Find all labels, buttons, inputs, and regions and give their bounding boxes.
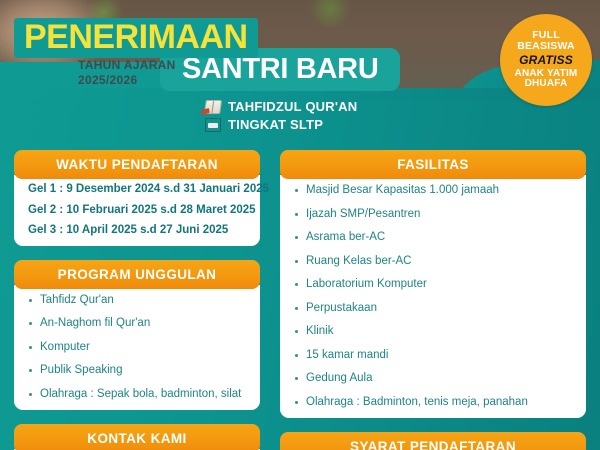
gel-row: Gel 2 : 10 Februari 2025 s.d 28 Maret 20… bbox=[28, 205, 250, 217]
program-tagline-level: TINGKAT SLTP bbox=[205, 117, 357, 132]
card-waktu-heading: WAKTU PENDAFTARAN bbox=[14, 150, 260, 179]
left-column: WAKTU PENDAFTARAN Gel 1 : 9 Desember 202… bbox=[0, 150, 268, 450]
program-tagline-quran: TAHFIDZUL QUR'AN bbox=[205, 99, 357, 114]
gel-row: Gel 3 : 10 April 2025 s.d 27 Juni 2025 bbox=[28, 225, 250, 237]
list-item: Komputer bbox=[26, 342, 248, 354]
list-item: Gedung Aula bbox=[292, 373, 574, 385]
program-tagline-quran-label: TAHFIDZUL QUR'AN bbox=[228, 99, 357, 114]
program-tagline-list: TAHFIDZUL QUR'AN TINGKAT SLTP bbox=[205, 99, 357, 135]
list-item: Laboratorium Komputer bbox=[292, 279, 574, 291]
card-syarat-heading: SYARAT PENDAFTARAN bbox=[280, 432, 586, 450]
list-item: Masjid Besar Kapasitas 1.000 jamaah bbox=[292, 185, 574, 197]
card-program-body: Tahfidz Qur'an An-Naghom fil Qur'an Komp… bbox=[14, 285, 260, 411]
badge-line-beasiswa: BEASISWA bbox=[517, 41, 575, 52]
list-item: Asrama ber-AC bbox=[292, 232, 574, 244]
card-program-heading: PROGRAM UNGGULAN bbox=[14, 260, 260, 289]
academic-year: TAHUN AJARAN 2025/2026 bbox=[78, 58, 176, 87]
page-subtitle: SANTRI BARU bbox=[182, 54, 378, 84]
badge-line-gratiss: GRATISS bbox=[519, 54, 573, 67]
right-column: FASILITAS Masjid Besar Kapasitas 1.000 j… bbox=[268, 150, 600, 450]
title-band: PENERIMAAN bbox=[14, 18, 258, 58]
list-item: Olahraga : Sepak bola, badminton, silat bbox=[26, 389, 248, 401]
scholarship-badge: FULL BEASISWA GRATISS ANAK YATIM DHUAFA bbox=[500, 14, 592, 106]
fasilitas-list: Masjid Besar Kapasitas 1.000 jamaah Ijaz… bbox=[292, 185, 574, 408]
list-item: 15 kamar mandi bbox=[292, 350, 574, 362]
academic-year-line1: TAHUN AJARAN bbox=[78, 58, 176, 73]
list-item: An-Naghom fil Qur'an bbox=[26, 318, 248, 330]
badge-line-dhuafa: DHUAFA bbox=[525, 79, 568, 90]
page-title: PENERIMAAN bbox=[24, 20, 248, 54]
list-item: Olahraga : Badminton, tenis meja, panaha… bbox=[292, 397, 574, 409]
poster-canvas: PENERIMAAN SANTRI BARU TAHUN AJARAN 2025… bbox=[0, 0, 600, 450]
card-syarat-pendaftaran: SYARAT PENDAFTARAN Laki-laki Lulusan SD/… bbox=[280, 432, 586, 450]
list-item: Ijazah SMP/Pesantren bbox=[292, 209, 574, 221]
quran-icon bbox=[204, 100, 222, 114]
card-fasilitas-body: Masjid Besar Kapasitas 1.000 jamaah Ijaz… bbox=[280, 175, 586, 418]
list-item: Klinik bbox=[292, 326, 574, 338]
card-fasilitas-heading: FASILITAS bbox=[280, 150, 586, 179]
school-bag-icon bbox=[205, 118, 221, 132]
list-item: Tahfidz Qur'an bbox=[26, 295, 248, 307]
list-item: Ruang Kelas ber-AC bbox=[292, 256, 574, 268]
card-waktu-pendaftaran: WAKTU PENDAFTARAN Gel 1 : 9 Desember 202… bbox=[14, 150, 260, 246]
list-item: Perpustakaan bbox=[292, 303, 574, 315]
academic-year-line2: 2025/2026 bbox=[78, 73, 176, 88]
card-fasilitas: FASILITAS Masjid Besar Kapasitas 1.000 j… bbox=[280, 150, 586, 418]
gel-row: Gel 1 : 9 Desember 2024 s.d 31 Januari 2… bbox=[28, 184, 250, 196]
card-waktu-body: Gel 1 : 9 Desember 2024 s.d 31 Januari 2… bbox=[14, 175, 260, 246]
card-program-unggulan: PROGRAM UNGGULAN Tahfidz Qur'an An-Nagho… bbox=[14, 260, 260, 411]
list-item: Publik Speaking bbox=[26, 365, 248, 377]
content-columns: WAKTU PENDAFTARAN Gel 1 : 9 Desember 202… bbox=[0, 150, 600, 450]
program-list: Tahfidz Qur'an An-Naghom fil Qur'an Komp… bbox=[26, 295, 248, 401]
program-tagline-level-label: TINGKAT SLTP bbox=[228, 117, 323, 132]
card-kontak-kami: KONTAK KAMI 0898-0897-333 (Hotline) 0898… bbox=[14, 424, 260, 450]
card-kontak-heading: KONTAK KAMI bbox=[14, 424, 260, 450]
